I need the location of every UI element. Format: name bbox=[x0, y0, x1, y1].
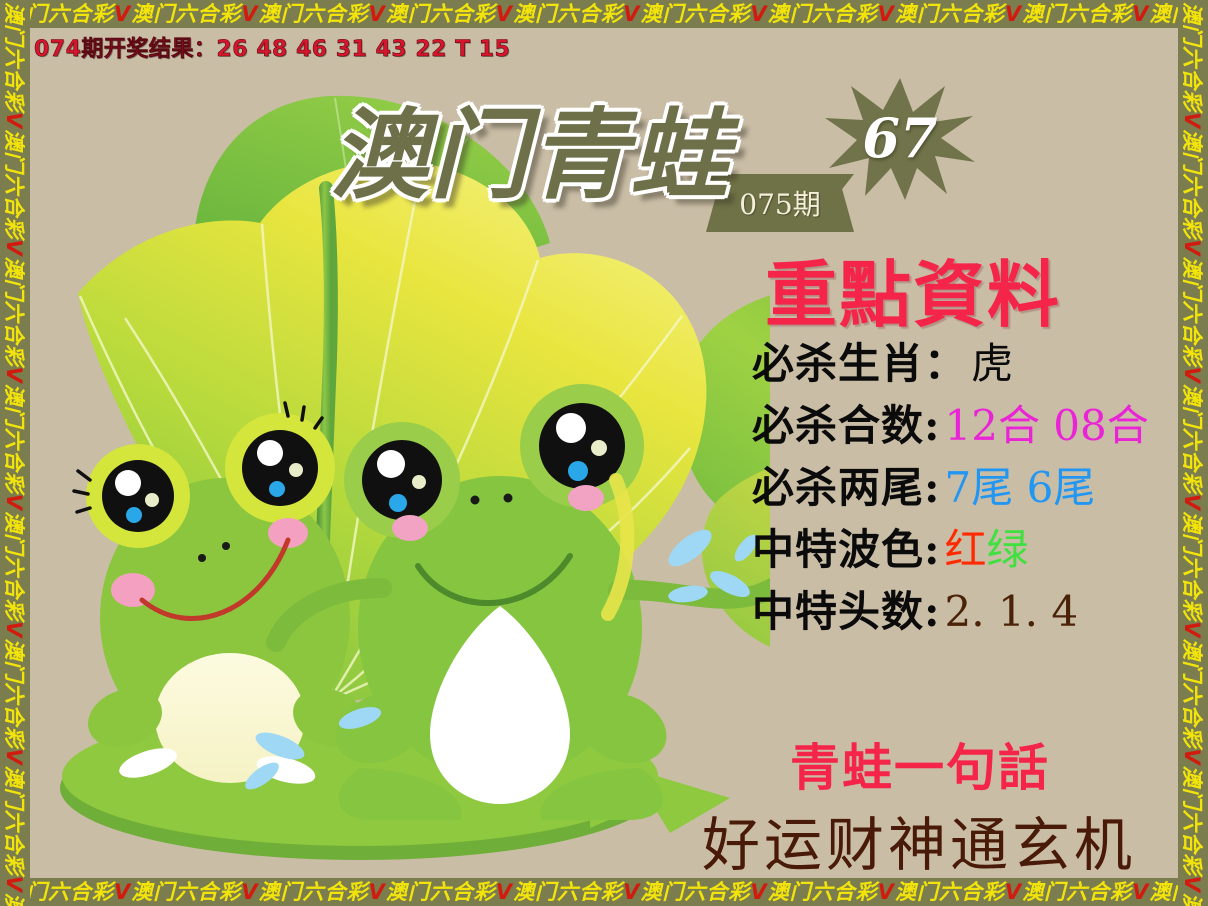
info-row-value: 红 bbox=[941, 516, 987, 577]
frame-band-left: 澳门六合彩V澳门六合彩V澳门六合彩V澳门六合彩V澳门六合彩V澳门六合彩V澳门六合… bbox=[0, 0, 30, 906]
info-rows-list: 必杀生肖：虎必杀合数:12合 08合必杀两尾:7尾 6尾中特波色:红绿中特头数:… bbox=[752, 330, 1149, 640]
starburst-number: 67 bbox=[825, 106, 975, 170]
poster-root: 澳门六合彩V澳门六合彩V澳门六合彩V澳门六合彩V澳门六合彩V澳门六合彩V澳门六合… bbox=[0, 0, 1208, 906]
draw-result-line: 074期开奖结果：26 48 46 31 43 22 T 15 bbox=[34, 31, 510, 63]
frame-band-right: 澳门六合彩V澳门六合彩V澳门六合彩V澳门六合彩V澳门六合彩V澳门六合彩V澳门六合… bbox=[1178, 0, 1208, 906]
info-row-value: 2. 1. 4 bbox=[941, 587, 1079, 636]
info-row-value: 12合 08合 bbox=[941, 392, 1149, 453]
slogan-text: 好运财神通玄机 bbox=[702, 798, 1136, 878]
info-row: 中特头数:2. 1. 4 bbox=[752, 578, 1149, 640]
info-row-label: 必杀合数: bbox=[752, 392, 941, 453]
frame-band-bottom: 澳门六合彩V澳门六合彩V澳门六合彩V澳门六合彩V澳门六合彩V澳门六合彩V澳门六合… bbox=[0, 878, 1208, 906]
info-row-label: 中特波色: bbox=[752, 516, 941, 577]
frame-band-top-text: 澳门六合彩V澳门六合彩V澳门六合彩V澳门六合彩V澳门六合彩V澳门六合彩V澳门六合… bbox=[4, 0, 1208, 28]
info-row-label: 必杀生肖： bbox=[752, 330, 967, 391]
slogan-heading: 青蛙一句話 bbox=[790, 728, 1050, 800]
info-row: 必杀生肖：虎 bbox=[752, 330, 1149, 392]
frame-band-right-text: 澳门六合彩V澳门六合彩V澳门六合彩V澳门六合彩V澳门六合彩V澳门六合彩V澳门六合… bbox=[1180, 2, 1204, 906]
info-row-value-secondary: 绿 bbox=[987, 516, 1029, 577]
frame-band-top: 澳门六合彩V澳门六合彩V澳门六合彩V澳门六合彩V澳门六合彩V澳门六合彩V澳门六合… bbox=[0, 0, 1208, 28]
page-title: 澳门青蛙 bbox=[330, 76, 730, 218]
info-row-label: 中特头数: bbox=[752, 578, 941, 639]
info-row-value: 7尾 6尾 bbox=[941, 454, 1096, 515]
frame-band-left-text: 澳门六合彩V澳门六合彩V澳门六合彩V澳门六合彩V澳门六合彩V澳门六合彩V澳门六合… bbox=[2, 2, 26, 906]
section-heading: 重點資料 bbox=[765, 236, 1061, 341]
info-row: 必杀两尾:7尾 6尾 bbox=[752, 454, 1149, 516]
info-row: 必杀合数:12合 08合 bbox=[752, 392, 1149, 454]
poster-canvas: 074期开奖结果：26 48 46 31 43 22 T 15 澳门青蛙 67 … bbox=[30, 28, 1178, 878]
info-row: 中特波色:红绿 bbox=[752, 516, 1149, 578]
info-row-value: 虎 bbox=[967, 330, 1013, 391]
frame-band-bottom-text: 澳门六合彩V澳门六合彩V澳门六合彩V澳门六合彩V澳门六合彩V澳门六合彩V澳门六合… bbox=[4, 878, 1208, 906]
info-row-label: 必杀两尾: bbox=[752, 454, 941, 515]
